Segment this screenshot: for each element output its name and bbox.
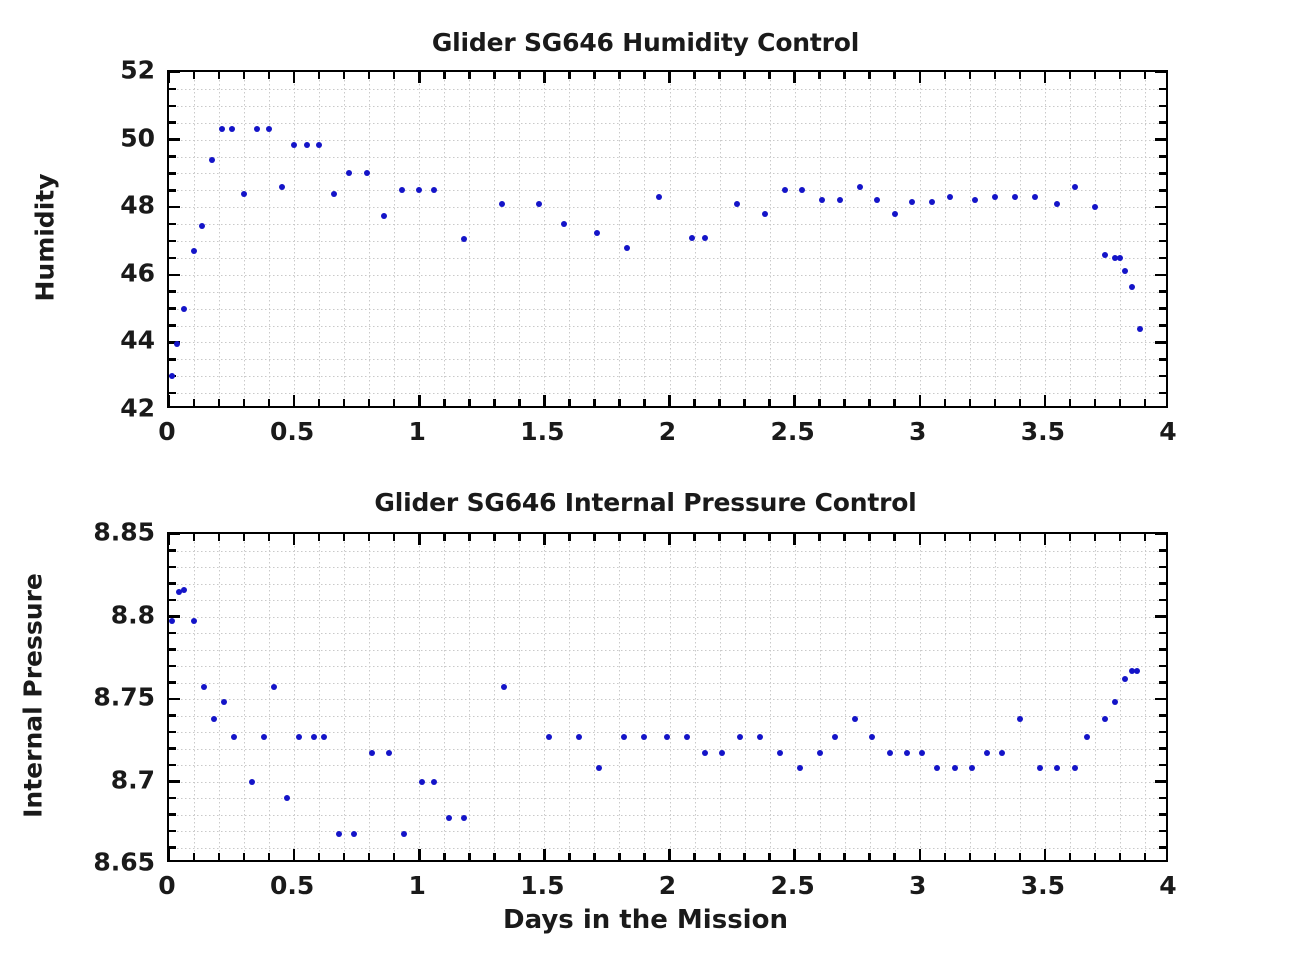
x-tick-minor [318, 534, 321, 541]
y-tick-minor [169, 121, 176, 124]
gridline-vertical [1095, 534, 1096, 860]
x-tick-minor [618, 534, 621, 541]
x-tick-major [418, 849, 421, 860]
data-point [1137, 326, 1143, 332]
y-tick-minor [1159, 324, 1166, 327]
data-point [684, 734, 690, 740]
y-tick-major [1155, 698, 1166, 701]
y-tick-label: 46 [120, 258, 155, 287]
x-tick-minor [944, 853, 947, 860]
gridline-vertical [1120, 72, 1121, 406]
data-point [321, 734, 327, 740]
gridline-horizontal [169, 173, 1166, 174]
x-tick-label: 0 [158, 871, 175, 900]
data-point [311, 734, 317, 740]
y-tick-minor [1159, 121, 1166, 124]
gridline-vertical [269, 72, 270, 406]
plot-area-internal-pressure [167, 532, 1168, 862]
x-tick-minor [718, 853, 721, 860]
x-tick-minor [618, 72, 621, 79]
x-tick-minor [193, 534, 196, 541]
x-tick-label: 3.5 [1021, 871, 1065, 900]
data-point [719, 750, 725, 756]
x-tick-minor [643, 72, 646, 79]
data-point [621, 734, 627, 740]
x-tick-minor [693, 72, 696, 79]
data-point [386, 750, 392, 756]
gridline-vertical [945, 72, 946, 406]
x-tick-minor [994, 534, 997, 541]
y-tick-minor [1159, 155, 1166, 158]
data-point [1112, 699, 1118, 705]
y-tick-minor [1159, 731, 1166, 734]
data-point [291, 142, 297, 148]
gridline-vertical [795, 72, 796, 406]
data-point [536, 201, 542, 207]
x-tick-minor [343, 399, 346, 406]
data-point [1012, 194, 1018, 200]
data-point [1092, 204, 1098, 210]
y-tick-minor [169, 599, 176, 602]
x-tick-minor [944, 534, 947, 541]
data-point [261, 734, 267, 740]
gridline-horizontal [169, 551, 1166, 552]
gridline-horizontal [169, 699, 1166, 700]
x-tick-major [168, 395, 171, 406]
x-tick-minor [1069, 399, 1072, 406]
x-tick-minor [318, 72, 321, 79]
data-point [304, 142, 310, 148]
data-point [279, 184, 285, 190]
x-tick-minor [493, 534, 496, 541]
x-tick-minor [243, 399, 246, 406]
data-point [734, 201, 740, 207]
x-tick-minor [343, 534, 346, 541]
y-tick-label: 8.75 [93, 683, 155, 712]
x-tick-minor [818, 534, 821, 541]
x-tick-label: 3 [909, 417, 926, 446]
y-tick-minor [169, 731, 176, 734]
y-tick-minor [1159, 582, 1166, 585]
data-point [594, 230, 600, 236]
y-tick-minor [169, 846, 176, 849]
gridline-vertical [444, 72, 445, 406]
gridline-horizontal [169, 89, 1166, 90]
x-tick-minor [693, 534, 696, 541]
y-tick-minor [169, 648, 176, 651]
x-tick-minor [743, 853, 746, 860]
gridline-vertical [494, 72, 495, 406]
data-point [209, 157, 215, 163]
data-point [284, 795, 290, 801]
gridline-horizontal [169, 567, 1166, 568]
gridline-vertical [444, 534, 445, 860]
x-tick-minor [193, 853, 196, 860]
data-point [797, 765, 803, 771]
x-tick-minor [568, 72, 571, 79]
y-tick-minor [1159, 846, 1166, 849]
y-tick-minor [1159, 830, 1166, 833]
y-tick-minor [169, 155, 176, 158]
data-point [576, 734, 582, 740]
gridline-vertical [720, 534, 721, 860]
data-point [819, 197, 825, 203]
gridline-horizontal [169, 650, 1166, 651]
data-point [929, 199, 935, 205]
x-tick-major [919, 849, 922, 860]
data-point [231, 734, 237, 740]
y-tick-minor [169, 582, 176, 585]
chart-title-internal-pressure: Glider SG646 Internal Pressure Control [0, 488, 1291, 517]
x-tick-major [168, 849, 171, 860]
x-tick-minor [193, 399, 196, 406]
y-tick-minor [169, 105, 176, 108]
x-tick-minor [944, 72, 947, 79]
x-tick-minor [368, 72, 371, 79]
gridline-vertical [219, 72, 220, 406]
gridline-horizontal [169, 241, 1166, 242]
x-tick-minor [1069, 72, 1072, 79]
data-point [416, 187, 422, 193]
gridline-vertical [194, 534, 195, 860]
x-tick-minor [1094, 399, 1097, 406]
x-tick-minor [1094, 853, 1097, 860]
x-tick-minor [393, 399, 396, 406]
data-point [1037, 765, 1043, 771]
gridline-vertical [644, 72, 645, 406]
x-tick-minor [893, 534, 896, 541]
y-tick-minor [169, 358, 176, 361]
x-tick-major [919, 534, 922, 545]
y-tick-label: 44 [120, 326, 155, 355]
data-point [1084, 734, 1090, 740]
y-tick-minor [1159, 681, 1166, 684]
data-point [221, 699, 227, 705]
data-point [1117, 255, 1123, 261]
data-point [999, 750, 1005, 756]
y-tick-minor [169, 566, 176, 569]
gridline-vertical [369, 72, 370, 406]
gridline-vertical [995, 72, 996, 406]
gridline-vertical [670, 72, 671, 406]
data-point [169, 373, 175, 379]
x-tick-minor [718, 399, 721, 406]
x-tick-label: 0 [158, 417, 175, 446]
gridline-vertical [945, 534, 946, 860]
y-tick-major [169, 206, 180, 209]
x-tick-minor [218, 399, 221, 406]
y-tick-label: 8.8 [111, 600, 155, 629]
y-tick-minor [169, 172, 176, 175]
x-tick-minor [243, 534, 246, 541]
y-tick-minor [1159, 375, 1166, 378]
gridline-horizontal [169, 309, 1166, 310]
x-tick-minor [468, 853, 471, 860]
gridline-vertical [1045, 72, 1046, 406]
y-tick-minor [169, 290, 176, 293]
x-tick-minor [518, 853, 521, 860]
data-point [249, 779, 255, 785]
x-tick-minor [893, 853, 896, 860]
gridline-horizontal [169, 140, 1166, 141]
x-tick-major [293, 395, 296, 406]
y-tick-minor [169, 223, 176, 226]
y-tick-major [1155, 341, 1166, 344]
y-tick-label: 50 [120, 123, 155, 152]
x-tick-major [668, 534, 671, 545]
x-tick-minor [268, 853, 271, 860]
x-tick-minor [768, 853, 771, 860]
x-tick-minor [994, 853, 997, 860]
gridline-vertical [770, 72, 771, 406]
gridline-vertical [870, 72, 871, 406]
gridline-vertical [344, 534, 345, 860]
x-tick-minor [518, 399, 521, 406]
x-tick-label: 2.5 [770, 417, 814, 446]
x-tick-minor [468, 399, 471, 406]
data-point [241, 191, 247, 197]
x-tick-major [293, 534, 296, 545]
x-tick-minor [818, 399, 821, 406]
x-tick-minor [643, 853, 646, 860]
x-tick-major [668, 849, 671, 860]
y-tick-major [1155, 206, 1166, 209]
x-tick-minor [994, 72, 997, 79]
gridline-vertical [920, 534, 921, 860]
x-tick-minor [468, 534, 471, 541]
gridline-horizontal [169, 600, 1166, 601]
y-tick-label: 8.85 [93, 518, 155, 547]
gridline-vertical [845, 534, 846, 860]
y-tick-minor [1159, 566, 1166, 569]
x-tick-minor [1119, 853, 1122, 860]
y-tick-major [169, 533, 180, 536]
gridline-vertical [394, 72, 395, 406]
gridline-vertical [244, 534, 245, 860]
data-point [1017, 716, 1023, 722]
y-tick-minor [169, 681, 176, 684]
x-tick-minor [743, 534, 746, 541]
gridline-horizontal [169, 258, 1166, 259]
x-tick-minor [718, 534, 721, 541]
gridline-vertical [745, 534, 746, 860]
data-point [1072, 765, 1078, 771]
x-tick-label: 2.5 [770, 871, 814, 900]
x-tick-major [418, 72, 421, 83]
gridline-horizontal [169, 683, 1166, 684]
gridline-vertical [294, 72, 295, 406]
gridline-vertical [970, 534, 971, 860]
x-tick-minor [843, 72, 846, 79]
x-tick-major [1044, 534, 1047, 545]
y-tick-major [169, 615, 180, 618]
x-tick-major [793, 72, 796, 83]
x-tick-major [668, 72, 671, 83]
x-tick-major [543, 72, 546, 83]
data-point [316, 142, 322, 148]
y-tick-minor [169, 747, 176, 750]
gridline-vertical [319, 72, 320, 406]
data-point [381, 213, 387, 219]
gridline-vertical [820, 534, 821, 860]
x-tick-label: 2 [659, 417, 676, 446]
data-point [1102, 252, 1108, 258]
y-tick-minor [169, 307, 176, 310]
gridline-horizontal [169, 359, 1166, 360]
x-tick-minor [393, 534, 396, 541]
y-tick-major [169, 698, 180, 701]
gridline-vertical [1020, 534, 1021, 860]
gridline-vertical [820, 72, 821, 406]
gridline-vertical [1045, 534, 1046, 860]
gridline-horizontal [169, 326, 1166, 327]
data-point [702, 750, 708, 756]
x-tick-minor [493, 72, 496, 79]
x-tick-label: 4 [1159, 871, 1176, 900]
y-tick-minor [1159, 632, 1166, 635]
x-tick-label: 4 [1159, 417, 1176, 446]
data-point [737, 734, 743, 740]
y-tick-major [169, 71, 180, 74]
x-tick-minor [818, 853, 821, 860]
x-tick-minor [1119, 399, 1122, 406]
y-tick-minor [169, 764, 176, 767]
y-tick-minor [169, 392, 176, 395]
x-tick-minor [218, 72, 221, 79]
x-tick-minor [843, 853, 846, 860]
gridline-vertical [594, 534, 595, 860]
gridline-horizontal [169, 224, 1166, 225]
x-tick-major [293, 72, 296, 83]
gridline-vertical [419, 72, 420, 406]
x-tick-minor [893, 399, 896, 406]
x-tick-minor [843, 399, 846, 406]
data-point [887, 750, 893, 756]
y-tick-minor [169, 189, 176, 192]
x-tick-minor [368, 534, 371, 541]
data-point [501, 684, 507, 690]
x-tick-minor [1019, 72, 1022, 79]
gridline-vertical [369, 534, 370, 860]
x-tick-minor [243, 853, 246, 860]
x-tick-minor [1094, 72, 1097, 79]
data-point [596, 765, 602, 771]
gridline-vertical [569, 534, 570, 860]
data-point [777, 750, 783, 756]
data-point [431, 779, 437, 785]
x-tick-major [793, 534, 796, 545]
data-point [461, 815, 467, 821]
data-point [992, 194, 998, 200]
gridline-vertical [194, 72, 195, 406]
x-tick-major [793, 395, 796, 406]
data-point [664, 734, 670, 740]
gridline-horizontal [169, 732, 1166, 733]
x-tick-label: 3 [909, 871, 926, 900]
plot-area-humidity [167, 70, 1168, 408]
x-tick-minor [1069, 534, 1072, 541]
y-tick-major [1155, 615, 1166, 618]
data-point [201, 684, 207, 690]
x-tick-minor [393, 72, 396, 79]
data-point [219, 126, 225, 132]
x-tick-minor [768, 399, 771, 406]
y-axis-title-internal-pressure: Internal Pressure [19, 531, 48, 861]
data-point [446, 815, 452, 821]
x-tick-minor [1094, 534, 1097, 541]
y-tick-major [169, 274, 180, 277]
gridline-vertical [1120, 534, 1121, 860]
gridline-vertical [995, 534, 996, 860]
data-point [904, 750, 910, 756]
x-tick-minor [718, 72, 721, 79]
x-tick-major [919, 72, 922, 83]
x-tick-label: 2 [659, 871, 676, 900]
gridline-vertical [544, 72, 545, 406]
gridline-vertical [319, 534, 320, 860]
y-tick-major [1155, 71, 1166, 74]
data-point [1032, 194, 1038, 200]
x-tick-minor [868, 534, 871, 541]
data-point [757, 734, 763, 740]
gridline-horizontal [169, 207, 1166, 208]
gridline-horizontal [169, 782, 1166, 783]
y-tick-minor [1159, 714, 1166, 717]
gridline-vertical [695, 534, 696, 860]
gridline-vertical [419, 534, 420, 860]
x-tick-minor [693, 853, 696, 860]
x-tick-minor [443, 534, 446, 541]
gridline-vertical [895, 72, 896, 406]
data-point [1122, 676, 1128, 682]
y-tick-minor [1159, 172, 1166, 175]
data-point [336, 831, 342, 837]
y-tick-label: 42 [120, 394, 155, 423]
y-tick-minor [1159, 549, 1166, 552]
y-tick-major [169, 138, 180, 141]
x-tick-minor [768, 534, 771, 541]
y-tick-major [1155, 274, 1166, 277]
chart-panel-internal-pressure: Glider SG646 Internal Pressure Control I… [0, 465, 1291, 968]
data-point [369, 750, 375, 756]
x-tick-minor [868, 853, 871, 860]
x-tick-minor [218, 853, 221, 860]
x-tick-minor [443, 853, 446, 860]
gridline-vertical [895, 534, 896, 860]
y-tick-minor [169, 813, 176, 816]
x-tick-minor [1119, 534, 1122, 541]
data-point [857, 184, 863, 190]
data-point [1122, 268, 1128, 274]
x-tick-minor [468, 72, 471, 79]
y-tick-minor [169, 714, 176, 717]
y-tick-minor [1159, 223, 1166, 226]
y-tick-minor [169, 797, 176, 800]
x-tick-minor [243, 72, 246, 79]
gridline-horizontal [169, 342, 1166, 343]
x-tick-minor [868, 72, 871, 79]
gridline-vertical [344, 72, 345, 406]
data-point [656, 194, 662, 200]
x-tick-minor [1019, 853, 1022, 860]
gridline-vertical [244, 72, 245, 406]
y-tick-minor [169, 830, 176, 833]
x-tick-minor [944, 399, 947, 406]
x-tick-minor [994, 399, 997, 406]
x-tick-minor [843, 534, 846, 541]
x-tick-minor [443, 72, 446, 79]
gridline-vertical [544, 534, 545, 860]
